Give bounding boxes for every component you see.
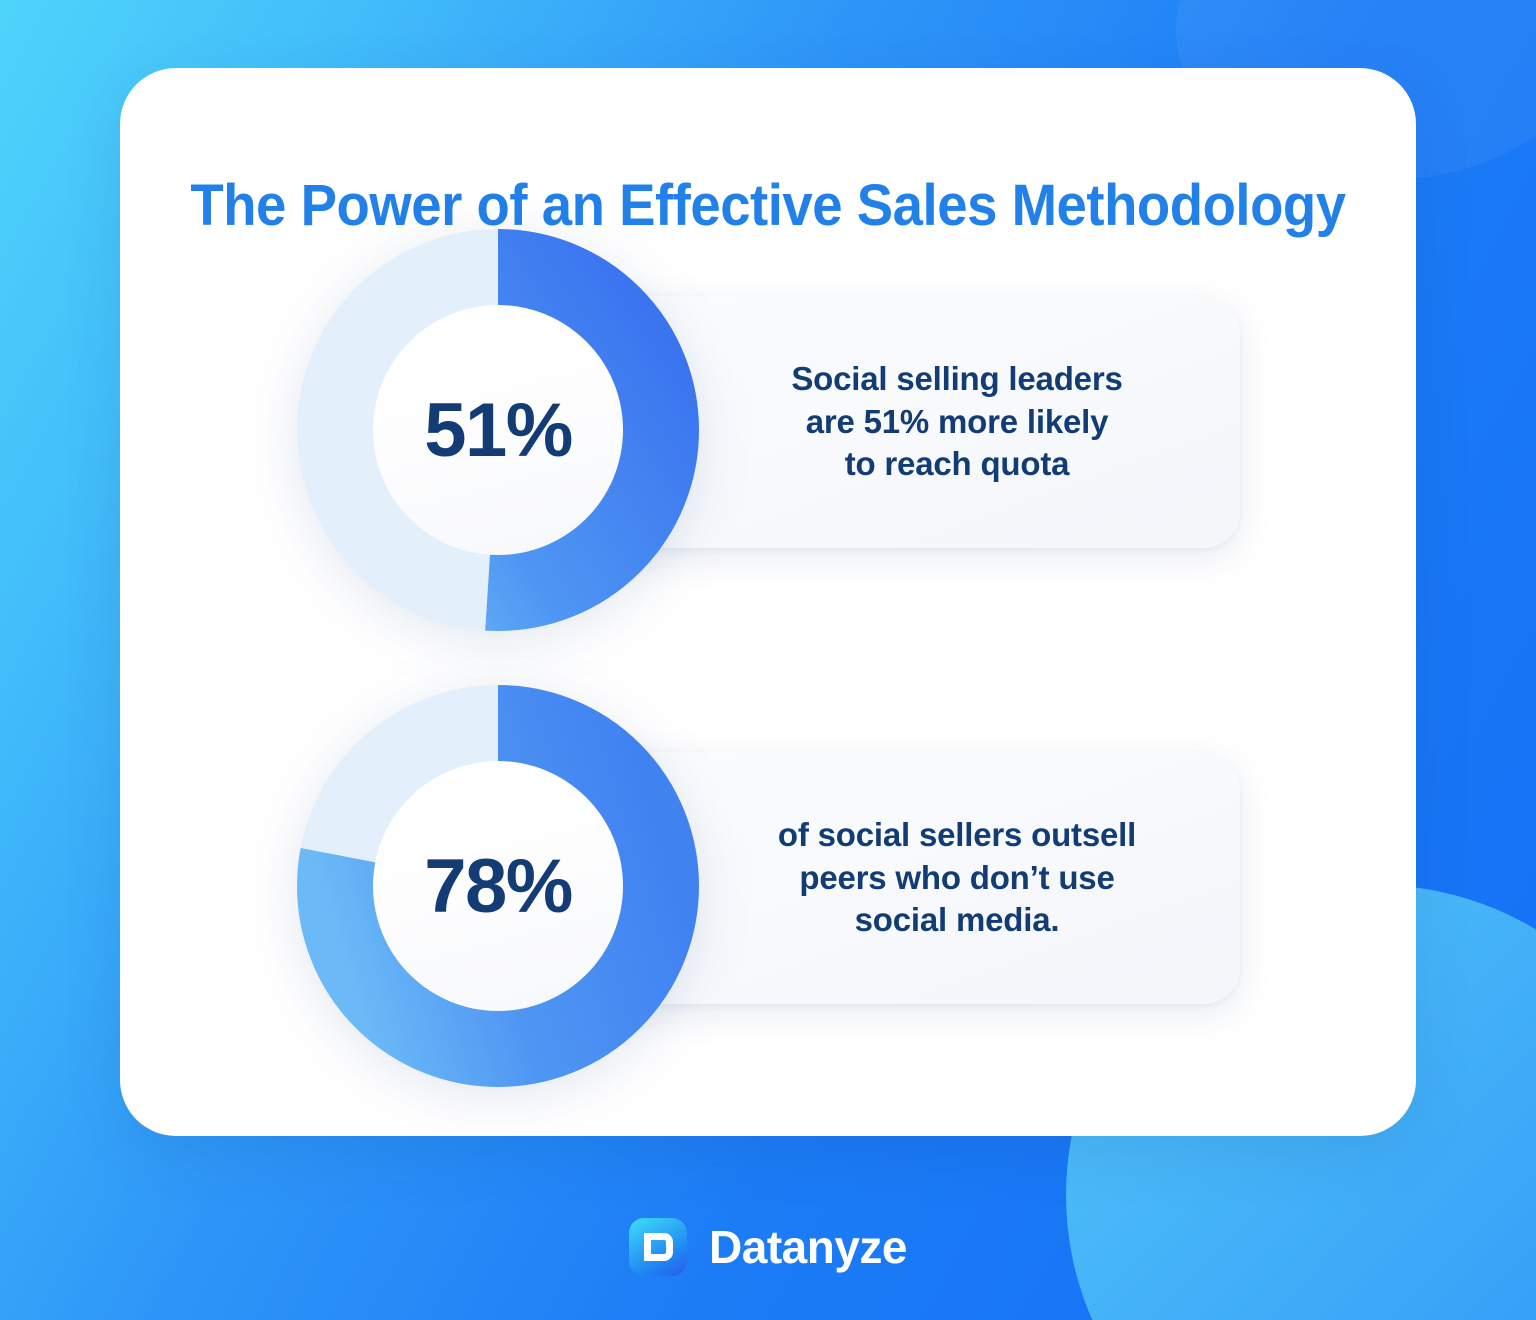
footer-brand: Datanyze xyxy=(0,1218,1536,1276)
caption-line: peers who don’t use xyxy=(799,859,1114,896)
brand-wordmark: Datanyze xyxy=(709,1220,907,1274)
donut-value-label-51: 51% xyxy=(424,387,572,474)
donut-chart-51: 51% xyxy=(296,228,700,632)
caption-line: to reach quota xyxy=(845,445,1070,482)
donut-center-51: 51% xyxy=(373,305,623,555)
caption-line: are 51% more likely xyxy=(806,403,1109,440)
stat-caption-text-51: Social selling leaders are 51% more like… xyxy=(791,358,1122,487)
stat-row-78: of social sellers outsell peers who don’… xyxy=(120,684,1416,1084)
caption-line: of social sellers outsell xyxy=(778,816,1136,853)
donut-center-78: 78% xyxy=(373,761,623,1011)
stat-caption-text-78: of social sellers outsell peers who don’… xyxy=(778,814,1136,943)
donut-value-label-78: 78% xyxy=(424,843,572,930)
donut-chart-78: 78% xyxy=(296,684,700,1088)
datanyze-d-logo-icon xyxy=(629,1218,687,1276)
caption-line: Social selling leaders xyxy=(791,360,1122,397)
caption-line: social media. xyxy=(855,901,1060,938)
stat-row-51: Social selling leaders are 51% more like… xyxy=(120,228,1416,628)
infographic-card: The Power of an Effective Sales Methodol… xyxy=(120,68,1416,1136)
